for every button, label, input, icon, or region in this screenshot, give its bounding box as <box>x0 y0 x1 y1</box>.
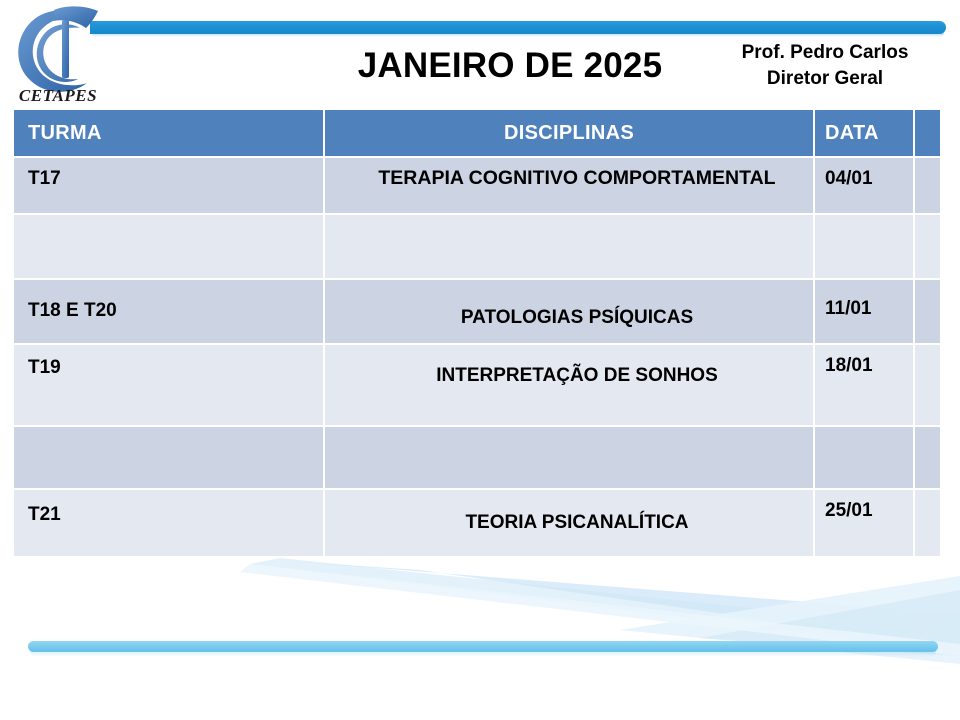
signatory-role: Diretor Geral <box>705 66 945 92</box>
cell-turma: T19 <box>14 345 325 427</box>
table-row: T18 E T20 PATOLOGIAS PSÍQUICAS 11/01 <box>14 280 940 345</box>
cell-disciplinas: INTERPRETAÇÃO DE SONHOS <box>325 345 815 427</box>
cell-data: 18/01 <box>815 345 915 427</box>
slide-canvas: CETAPES JANEIRO DE 2025 Prof. Pedro Carl… <box>0 0 960 720</box>
logo-wordmark: CETAPES <box>2 86 114 106</box>
cetapes-logo: CETAPES <box>2 2 114 106</box>
cell-extra <box>915 280 940 345</box>
column-header-disciplinas[interactable]: DISCIPLINAS <box>325 110 815 158</box>
column-header-extra[interactable] <box>915 110 940 158</box>
cell-disciplinas: PATOLOGIAS PSÍQUICAS <box>325 280 815 345</box>
cell-turma <box>14 427 325 490</box>
column-header-turma[interactable]: TURMA <box>14 110 325 158</box>
cell-disciplinas: TERAPIA COGNITIVO COMPORTAMENTAL <box>325 158 815 215</box>
cell-disciplinas <box>325 215 815 280</box>
bottom-ribbon-decoration <box>0 556 960 676</box>
cell-data: 25/01 <box>815 490 915 558</box>
page-title: JANEIRO DE 2025 <box>300 46 720 86</box>
cell-turma: T18 E T20 <box>14 280 325 345</box>
signatory-name: Prof. Pedro Carlos <box>705 40 945 66</box>
cell-extra <box>915 345 940 427</box>
cell-extra <box>915 215 940 280</box>
cell-extra <box>915 158 940 215</box>
cell-data <box>815 215 915 280</box>
top-accent-bar-shadow <box>92 33 944 37</box>
signatory-block: Prof. Pedro Carlos Diretor Geral <box>705 40 945 91</box>
cell-disciplinas: TEORIA PSICANALÍTICA <box>325 490 815 558</box>
cell-extra <box>915 490 940 558</box>
cell-turma: T21 <box>14 490 325 558</box>
table-row <box>14 427 940 490</box>
cell-disciplinas <box>325 427 815 490</box>
cell-extra <box>915 427 940 490</box>
cell-data <box>815 427 915 490</box>
cell-data: 04/01 <box>815 158 915 215</box>
table-row: T17 TERAPIA COGNITIVO COMPORTAMENTAL 04/… <box>14 158 940 215</box>
schedule-table: TURMA DISCIPLINAS DATA T17 TERAPIA COGNI… <box>14 110 940 558</box>
cell-data: 11/01 <box>815 280 915 345</box>
table-header-row: TURMA DISCIPLINAS DATA <box>14 110 940 158</box>
table-row: T21 TEORIA PSICANALÍTICA 25/01 <box>14 490 940 558</box>
bottom-accent-bar-glow <box>30 651 936 657</box>
column-header-data[interactable]: DATA <box>815 110 915 158</box>
table-row <box>14 215 940 280</box>
cell-turma <box>14 215 325 280</box>
table-row: T19 INTERPRETAÇÃO DE SONHOS 18/01 <box>14 345 940 427</box>
cell-turma: T17 <box>14 158 325 215</box>
